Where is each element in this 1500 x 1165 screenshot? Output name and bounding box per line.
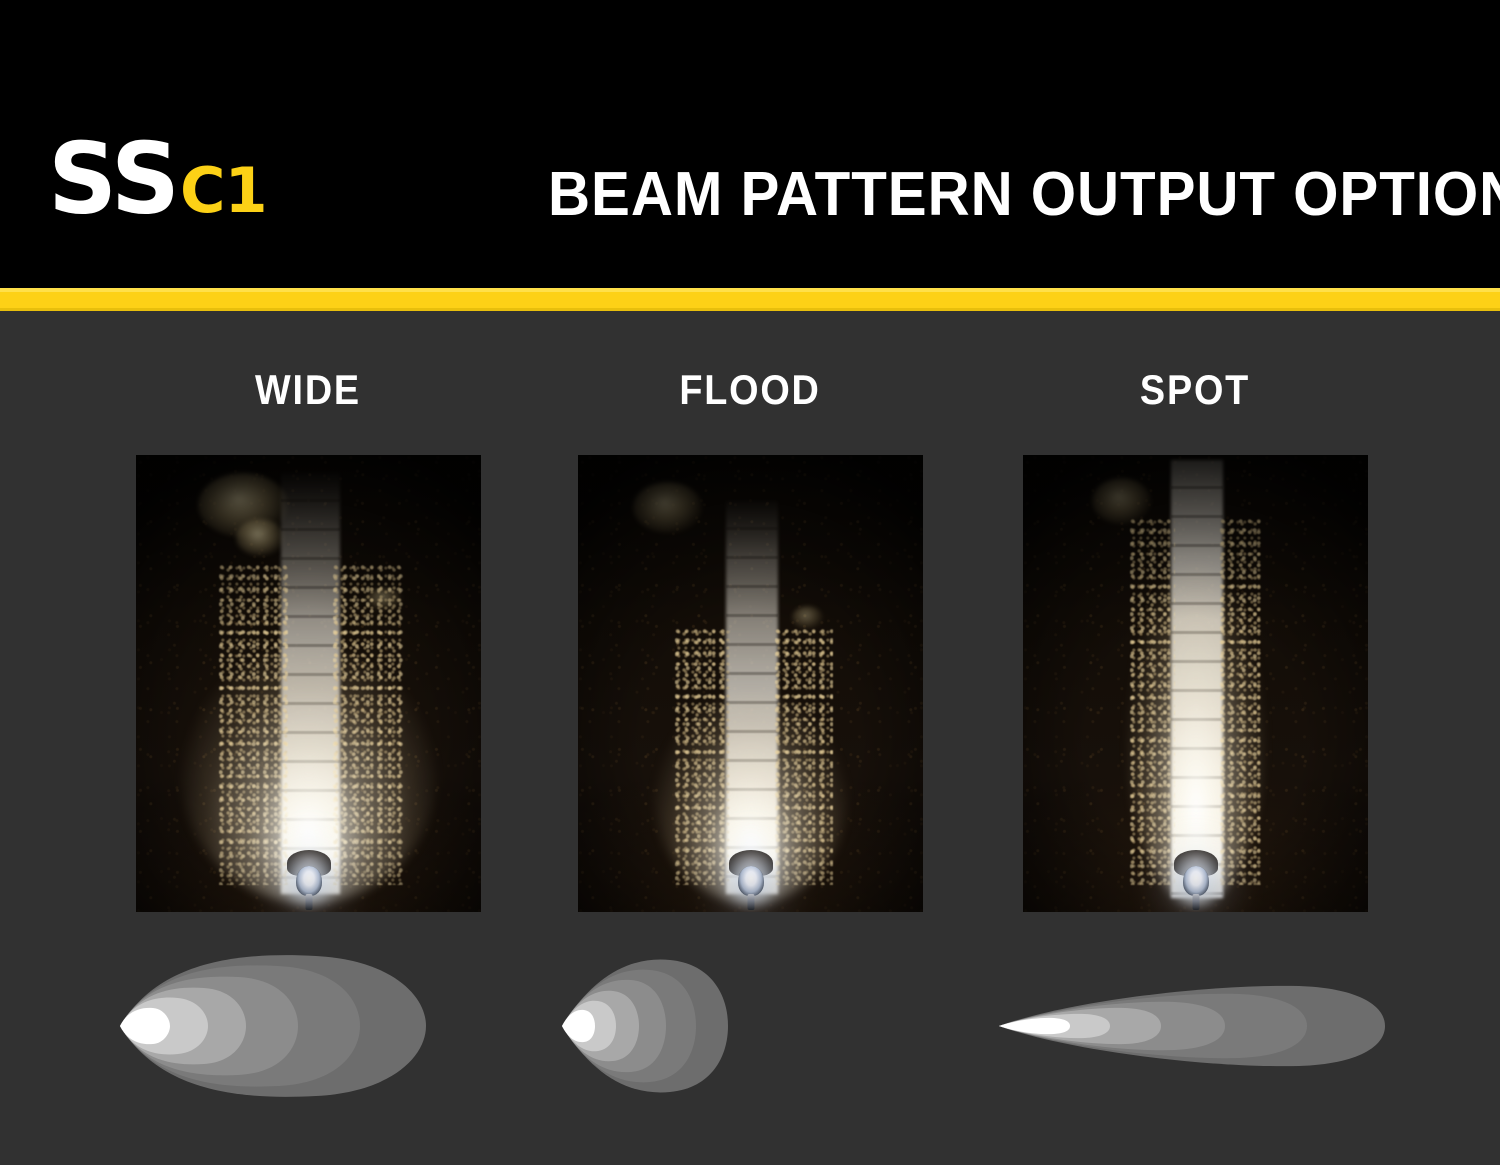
page-header: SS C1 BEAM PATTERN OUTPUT OPTIONS — [0, 0, 1500, 288]
beam-pattern-svg-wide — [98, 951, 518, 1101]
beam-pattern-diagram-flood — [540, 951, 960, 1101]
beam-pattern-diagram-spot — [985, 951, 1405, 1101]
beam-pattern-svg-flood — [540, 951, 960, 1101]
page-title: BEAM PATTERN OUTPUT OPTIONS — [548, 150, 1413, 240]
beam-layers — [562, 960, 728, 1093]
beam-option-label-wide: WIDE — [119, 369, 497, 411]
beam-pattern-diagram-wide — [98, 951, 518, 1101]
photo-vignette — [1023, 455, 1368, 912]
photo-vignette — [136, 455, 481, 912]
beam-layer-hotspot — [562, 1010, 595, 1042]
beam-option-label-flood: FLOOD — [561, 369, 939, 411]
beam-photo-wide — [136, 455, 481, 912]
beam-layer-hotspot — [120, 1008, 170, 1044]
beam-photo-spot — [1023, 455, 1368, 912]
brand-logo-accent: C1 — [180, 161, 267, 221]
brand-logo-primary: SS — [48, 135, 178, 223]
beam-layers — [120, 955, 426, 1097]
beam-option-label-spot: SPOT — [1006, 369, 1384, 411]
photo-vignette — [578, 455, 923, 912]
accent-divider — [0, 288, 1500, 311]
divider-highlight — [0, 288, 1500, 292]
content-area: WIDE — [0, 311, 1500, 1165]
beam-layer-hotspot — [999, 1018, 1070, 1034]
beam-layers — [999, 986, 1385, 1066]
brand-logo: SS C1 — [48, 136, 267, 222]
beam-pattern-svg-spot — [985, 951, 1405, 1101]
beam-photo-flood — [578, 455, 923, 912]
